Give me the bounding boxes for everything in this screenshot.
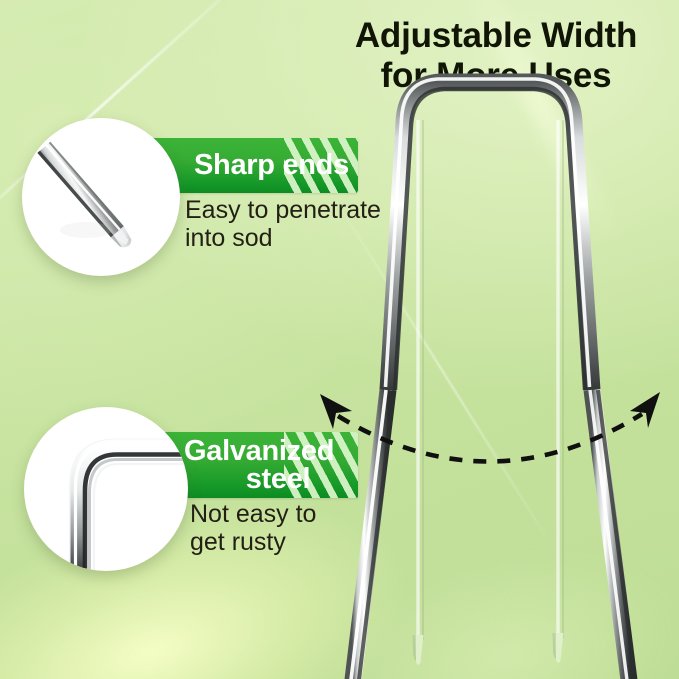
feature-banner-label-galvanized-steel: Galvanized steel	[150, 437, 358, 493]
feature-banner-sharp-ends: Sharp ends	[150, 138, 358, 193]
page-title-line1: Adjustable Width	[355, 16, 637, 55]
feature-banner-label-sharp-ends: Sharp ends	[150, 149, 358, 182]
feature-banner-galvanized-steel: Galvanized steel	[150, 432, 358, 498]
feature-photo-sharp-tip	[22, 118, 180, 276]
infographic-canvas: Adjustable Width for More Uses Sharp end…	[0, 0, 679, 679]
staple-front	[345, 79, 638, 679]
sharp-tip-illustration-icon	[22, 118, 180, 276]
feature-banner-label-line1: Galvanized	[176, 437, 358, 465]
feature-banner-label-line2: steel	[176, 465, 358, 493]
